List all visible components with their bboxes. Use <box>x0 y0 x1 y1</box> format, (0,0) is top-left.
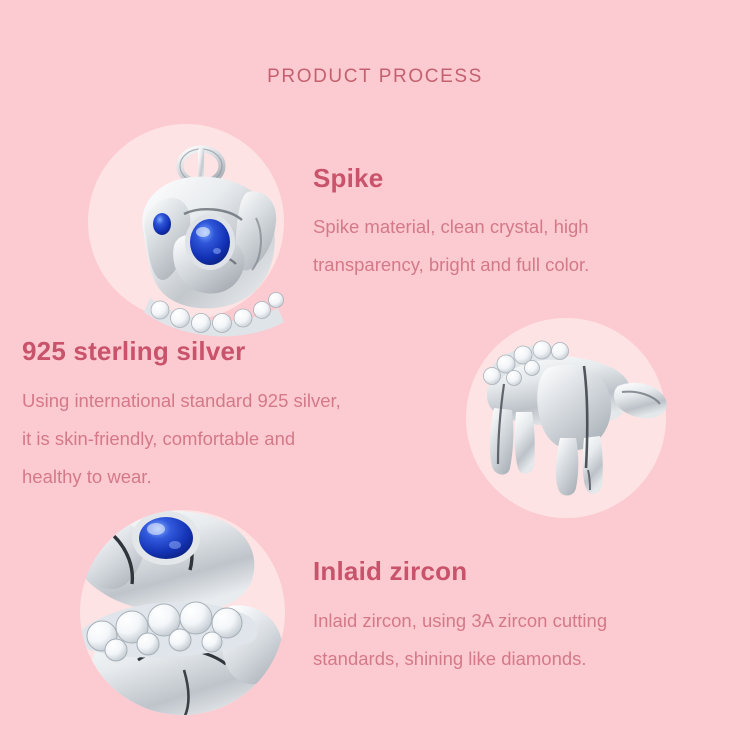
dog-head-charm-photo <box>88 118 318 333</box>
feature-body-line: it is skin-friendly, comfortable and <box>22 420 452 458</box>
dog-front-leg-left <box>490 408 513 475</box>
page-title: PRODUCT PROCESS <box>0 66 750 88</box>
gem-eye-far <box>153 213 171 235</box>
feature-body-spike: Spike material, clean crystal, high tran… <box>313 208 693 284</box>
gem-eye-closeup <box>132 511 200 565</box>
feature-body-line: Using international standard 925 silver, <box>22 382 452 420</box>
feature-body-line: Spike material, clean crystal, high <box>313 208 693 246</box>
feature-heading-zircon: Inlaid zircon <box>313 556 467 587</box>
feature-heading-silver: 925 sterling silver <box>22 336 245 367</box>
feature-heading-spike: Spike <box>313 163 383 194</box>
gem-eye-main <box>185 214 235 270</box>
feature-body-silver: Using international standard 925 silver,… <box>22 382 452 496</box>
product-process-infographic: PRODUCT PROCESS <box>0 0 750 750</box>
feature-body-line: healthy to wear. <box>22 458 452 496</box>
dog-front-leg-right <box>515 412 535 474</box>
dog-hind-leg-left <box>556 438 578 496</box>
feature-body-line: transparency, bright and full color. <box>313 246 693 284</box>
feature-body-line: Inlaid zircon, using 3A zircon cutting <box>313 602 733 640</box>
dog-body-charm-photo <box>462 320 677 510</box>
feature-body-line: standards, shining like diamonds. <box>313 640 733 678</box>
feature-body-zircon: Inlaid zircon, using 3A zircon cutting s… <box>313 602 733 678</box>
zircon-collar-closeup-photo <box>80 510 285 715</box>
